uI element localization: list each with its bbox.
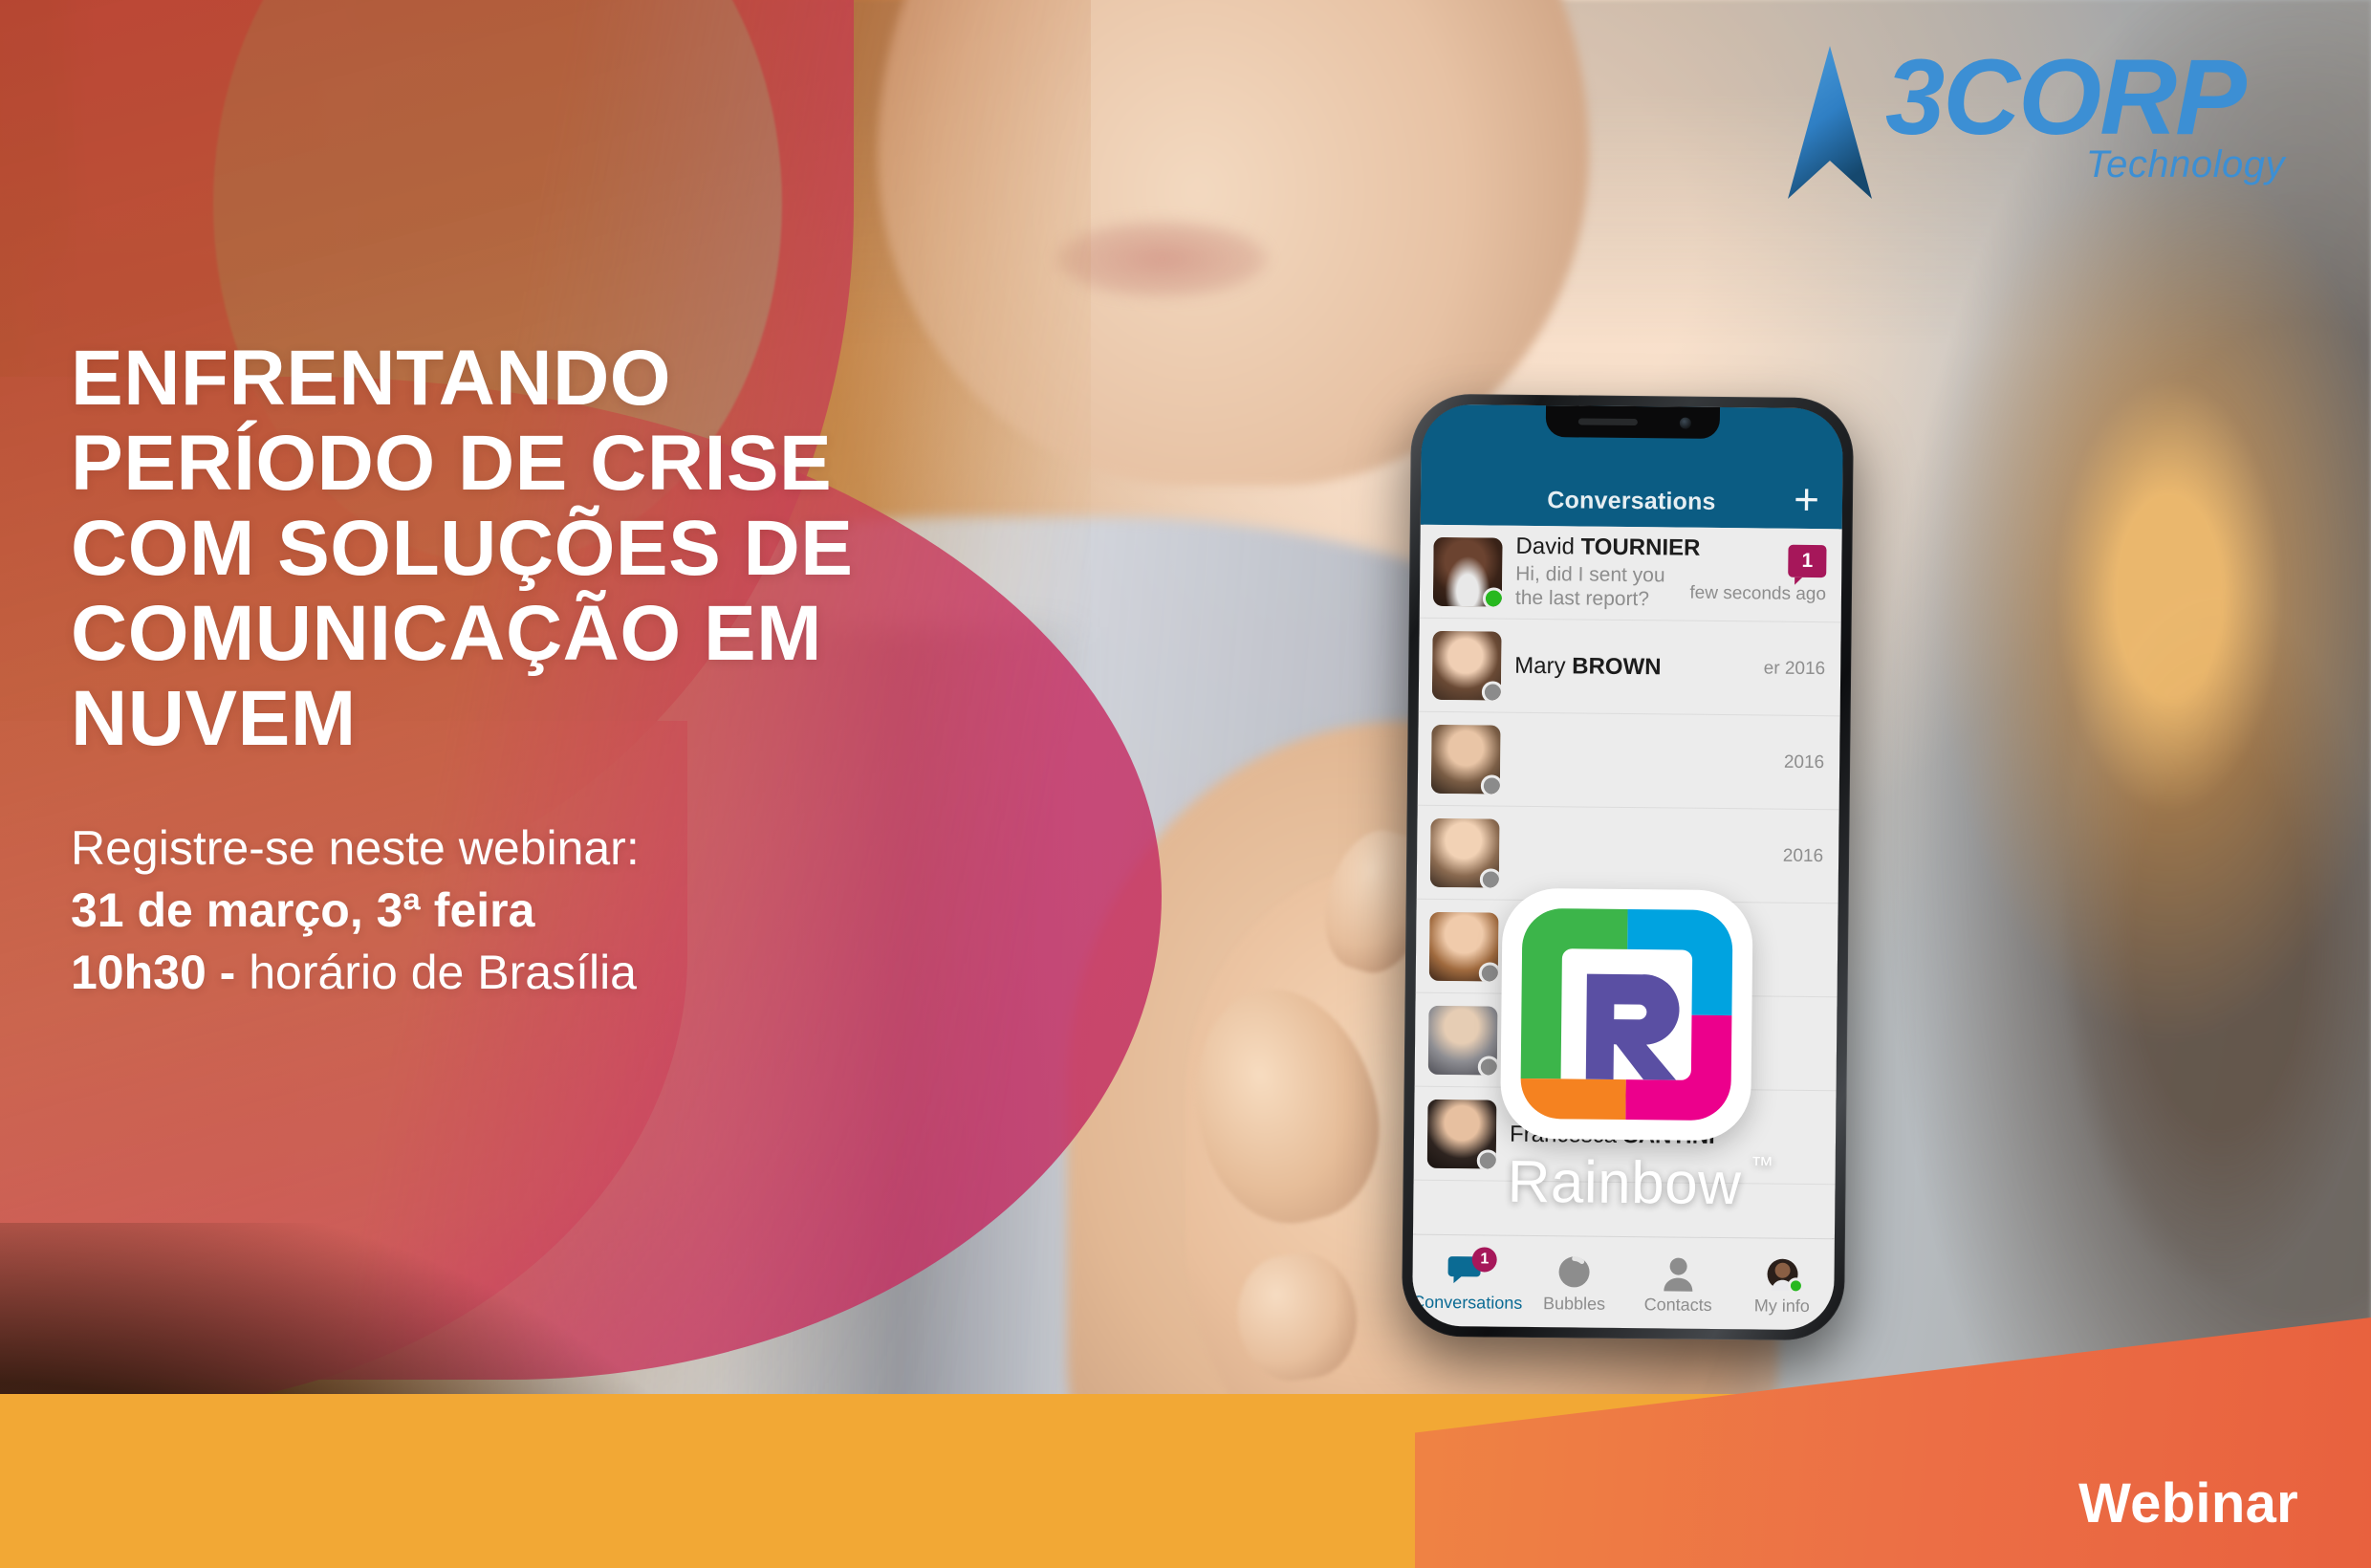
earpiece-speaker: [1577, 418, 1637, 425]
contact-name: Mary BROWN: [1514, 652, 1751, 682]
bubble-icon: [1522, 1250, 1626, 1293]
list-item[interactable]: David TOURNIER Hi, did I sent you the la…: [1420, 525, 1842, 623]
tab-contacts[interactable]: Contacts: [1626, 1251, 1730, 1316]
contact-name: David TOURNIER: [1515, 534, 1677, 562]
presence-indicator: [1481, 774, 1501, 794]
logo-tagline: Technology: [2086, 143, 2285, 186]
tab-label: Contacts: [1644, 1295, 1712, 1315]
headline-line-1: ENFRENTANDO: [71, 337, 1199, 422]
unread-badge: 1: [1788, 545, 1826, 577]
tab-badge: 1: [1472, 1247, 1497, 1272]
message-time: 2016: [1783, 845, 1824, 866]
list-item-main: David TOURNIER Hi, did I sent you the la…: [1515, 534, 1677, 612]
phone-screen: Conversations + David TOURNIER: [1412, 404, 1843, 1331]
plus-icon[interactable]: +: [1794, 477, 1819, 521]
phone-mockup: Conversations + David TOURNIER: [1402, 394, 1854, 1341]
bottom-tab-bar[interactable]: 1 Conversations Bubbles: [1412, 1234, 1835, 1331]
brand-logo: 3CORP Technology: [1773, 36, 2289, 208]
avatar-icon: [1730, 1252, 1835, 1295]
tab-label: Bubbles: [1543, 1294, 1605, 1314]
presence-indicator: [1480, 868, 1500, 887]
event-time-value: 10h30 -: [71, 946, 235, 999]
list-item-meta: 1 few seconds ago: [1689, 544, 1826, 605]
headline-line-5: NUVEM: [71, 677, 1199, 762]
last-message: Hi, did I sent you the last report?: [1515, 563, 1677, 612]
avatar: [1432, 630, 1502, 700]
headline-line-4: COMUNICAÇÃO EM: [71, 592, 1199, 677]
avatar: [1430, 817, 1500, 887]
list-item-meta: 2016: [1783, 845, 1824, 866]
headline-line-2: PERÍODO DE CRISE: [71, 422, 1199, 507]
list-item-main: Mary BROWN: [1514, 652, 1751, 682]
phone-notch: [1545, 405, 1719, 439]
registration-block: Registre-se neste webinar: 31 de março, …: [71, 817, 1199, 1004]
event-date-text: 31 de março, 3ª feira: [71, 883, 534, 937]
rainbow-app-icon: [1500, 888, 1753, 1142]
presence-indicator: [1482, 681, 1502, 700]
list-item-meta: 2016: [1784, 751, 1825, 773]
trademark-symbol: ™: [1751, 1152, 1774, 1179]
list-item[interactable]: Mary BROWN er 2016: [1419, 619, 1841, 717]
tab-my-info[interactable]: My info: [1729, 1252, 1834, 1317]
event-timezone: horário de Brasília: [235, 946, 637, 999]
contact-first-name: David: [1515, 534, 1575, 560]
tab-bubbles[interactable]: Bubbles: [1522, 1250, 1626, 1315]
app-header-title: Conversations: [1547, 487, 1716, 516]
rainbow-wordmark-text: Rainbow: [1507, 1149, 1741, 1218]
presence-indicator: [1483, 587, 1503, 606]
event-date: 31 de março, 3ª feira: [71, 880, 1199, 942]
logo-wordmark: 3CORP: [1885, 44, 2245, 151]
tab-label: Conversations: [1412, 1293, 1522, 1313]
footer-label: Webinar: [2078, 1471, 2298, 1535]
list-item[interactable]: 2016: [1418, 712, 1840, 811]
message-time: few seconds ago: [1689, 583, 1826, 605]
page-title: ENFRENTANDO PERÍODO DE CRISE COM SOLUÇÕE…: [71, 337, 1199, 762]
contact-first-name: Mary: [1514, 652, 1566, 679]
event-time: 10h30 - horário de Brasília: [71, 942, 1199, 1004]
avatar: [1431, 724, 1501, 794]
contact-last-name: BROWN: [1572, 653, 1662, 680]
list-item-meta: er 2016: [1764, 658, 1826, 680]
message-time: er 2016: [1764, 658, 1826, 680]
avatar: [1433, 536, 1503, 606]
person-icon: [1626, 1251, 1730, 1294]
headline-line-3: COM SOLUÇÕES DE: [71, 507, 1199, 592]
list-item-main: [1512, 853, 1770, 856]
rainbow-wordmark: Rainbow ™: [1507, 1148, 1741, 1219]
cta-text: Registre-se neste webinar:: [71, 817, 1199, 880]
tab-label: My info: [1754, 1296, 1810, 1316]
copy-block: ENFRENTANDO PERÍODO DE CRISE COM SOLUÇÕE…: [71, 337, 1199, 1004]
webinar-banner: ENFRENTANDO PERÍODO DE CRISE COM SOLUÇÕE…: [0, 0, 2371, 1568]
tab-conversations[interactable]: 1 Conversations: [1412, 1249, 1523, 1314]
chat-bubbles-icon: 1: [1412, 1249, 1523, 1292]
rainbow-branding: Rainbow ™: [1467, 887, 1786, 1218]
list-item-main: [1513, 759, 1771, 762]
contact-last-name: TOURNIER: [1580, 534, 1700, 561]
front-camera-icon: [1679, 418, 1690, 429]
arrow-up-icon: [1773, 40, 1887, 203]
message-time: 2016: [1784, 751, 1825, 773]
